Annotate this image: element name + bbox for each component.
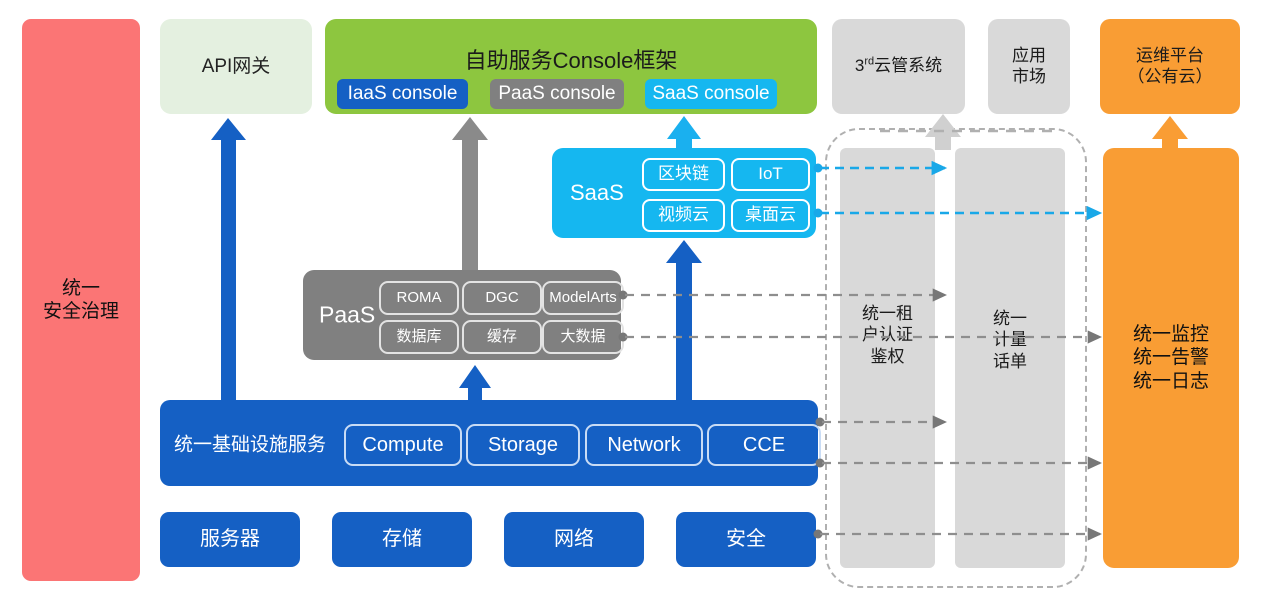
paas-service-roma-label: ROMA — [397, 290, 442, 307]
ops-panel-line2: 统一告警 — [1133, 346, 1209, 369]
saas-service-video-cloud[interactable]: 视频云 — [642, 199, 725, 232]
infra-service-storage[interactable]: Storage — [466, 424, 580, 466]
saas-console-label: SaaS console — [652, 84, 769, 105]
iaas-console-button[interactable]: IaaS console — [337, 79, 468, 109]
paas-service-modelarts[interactable]: ModelArts — [542, 281, 624, 315]
ops-platform-line1: 运维平台 — [1128, 46, 1213, 67]
unified-infrastructure-label: 统一基础设施服务 — [174, 430, 326, 457]
third-party-cloud-management-box: 3rd云管系统 — [832, 19, 965, 114]
ops-panel-line1: 统一监控 — [1133, 323, 1209, 346]
unified-tenant-auth-column: 统一租 户认证 鉴权 — [840, 148, 935, 568]
saas-service-desktop-cloud[interactable]: 桌面云 — [731, 199, 810, 232]
hardware-storage-box: 存储 — [332, 512, 472, 567]
arrow-infra-to-saas — [666, 240, 702, 400]
saas-console-button[interactable]: SaaS console — [645, 79, 777, 109]
paas-service-roma[interactable]: ROMA — [379, 281, 459, 315]
arrow-ops-panel-to-ops-platform — [1152, 116, 1188, 150]
hardware-security-label: 安全 — [726, 527, 766, 551]
hardware-storage-label: 存储 — [382, 527, 422, 551]
self-service-console-frame: 自助服务Console框架 IaaS console PaaS console … — [325, 19, 817, 114]
ops-platform-line2: （公有云） — [1128, 67, 1213, 88]
iaas-console-label: IaaS console — [348, 84, 458, 105]
api-gateway-label: API网关 — [202, 55, 271, 78]
ops-panel-line3: 统一日志 — [1133, 370, 1209, 393]
paas-service-dgc[interactable]: DGC — [462, 281, 542, 315]
unified-metering-billing-label: 统一 计量 话单 — [955, 308, 1065, 372]
saas-service-blockchain-label: 区块链 — [658, 165, 709, 184]
infra-service-cce[interactable]: CCE — [707, 424, 821, 466]
paas-service-cache-label: 缓存 — [487, 329, 517, 346]
governance-label-line1: 统一 — [43, 277, 119, 300]
app-market-box: 应用 市场 — [988, 19, 1070, 114]
app-market-line1: 应用 — [1012, 46, 1046, 67]
arrow-paas-to-console — [452, 117, 488, 270]
infra-service-network-label: Network — [607, 434, 680, 456]
saas-service-iot-label: IoT — [758, 165, 783, 184]
hardware-security-box: 安全 — [676, 512, 816, 567]
paas-service-bigdata[interactable]: 大数据 — [542, 320, 624, 354]
infra-service-network[interactable]: Network — [585, 424, 703, 466]
unified-security-governance-panel: 统一 安全治理 — [22, 19, 140, 581]
infra-service-compute-label: Compute — [362, 434, 443, 456]
app-market-line2: 市场 — [1012, 67, 1046, 88]
infra-service-compute[interactable]: Compute — [344, 424, 462, 466]
unified-infrastructure-services-bar: 统一基础设施服务 Compute Storage Network CCE — [160, 400, 818, 486]
console-frame-title: 自助服务Console框架 — [325, 43, 817, 75]
infra-service-cce-label: CCE — [743, 434, 785, 456]
paas-console-button[interactable]: PaaS console — [490, 79, 624, 109]
hardware-network-box: 网络 — [504, 512, 644, 567]
hardware-server-label: 服务器 — [200, 527, 260, 551]
infra-service-storage-label: Storage — [488, 434, 558, 456]
arrow-infra-to-paas — [459, 365, 491, 400]
paas-layer: PaaS ROMA DGC ModelArts 数据库 缓存 大数据 — [303, 270, 621, 360]
paas-service-bigdata-label: 大数据 — [560, 329, 605, 346]
paas-service-database-label: 数据库 — [396, 329, 441, 346]
hardware-server-box: 服务器 — [160, 512, 300, 567]
paas-console-label: PaaS console — [498, 84, 615, 105]
unified-monitoring-panel: 统一监控 统一告警 统一日志 — [1103, 148, 1239, 568]
saas-label: SaaS — [570, 180, 624, 206]
paas-service-database[interactable]: 数据库 — [379, 320, 459, 354]
unified-tenant-auth-label: 统一租 户认证 鉴权 — [840, 303, 935, 367]
saas-layer: SaaS 区块链 IoT 视频云 桌面云 — [552, 148, 816, 238]
governance-label-line2: 安全治理 — [43, 300, 119, 323]
saas-service-blockchain[interactable]: 区块链 — [642, 158, 725, 191]
paas-service-modelarts-label: ModelArts — [549, 290, 617, 307]
arrow-saas-to-saas-console — [667, 116, 701, 150]
paas-label: PaaS — [319, 302, 375, 329]
unified-metering-billing-column: 统一 计量 话单 — [955, 148, 1065, 568]
ops-platform-public-cloud-box: 运维平台 （公有云） — [1100, 19, 1240, 114]
architecture-diagram: 统一 安全治理 API网关 自助服务Console框架 IaaS console… — [0, 0, 1265, 605]
third-party-cloud-management-label: 3rd云管系统 — [855, 56, 942, 77]
api-gateway-box: API网关 — [160, 19, 312, 114]
saas-service-iot[interactable]: IoT — [731, 158, 810, 191]
paas-service-dgc-label: DGC — [485, 290, 518, 307]
arrow-infra-to-api-gateway — [211, 118, 246, 400]
hardware-network-label: 网络 — [554, 527, 594, 551]
superscript-rd: rd — [864, 55, 874, 67]
saas-service-video-cloud-label: 视频云 — [658, 206, 709, 225]
saas-service-desktop-cloud-label: 桌面云 — [745, 206, 796, 225]
paas-service-cache[interactable]: 缓存 — [462, 320, 542, 354]
